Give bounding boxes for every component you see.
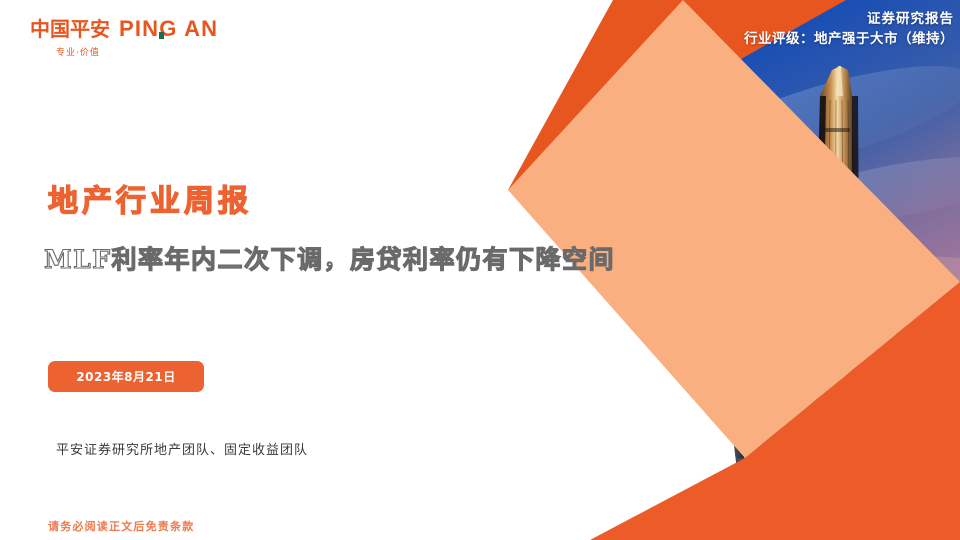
report-type-label: 证券研究报告 — [744, 9, 954, 29]
industry-rating-label: 行业评级：地产强于大市（维持） — [744, 29, 954, 49]
publish-date-badge: 2023年8月21日 — [48, 361, 204, 392]
disclaimer-notice: 请务必阅读正文后免责条款 — [48, 518, 194, 534]
presentation-cover-slide: 中国平安 PING AN 专业·价值 证券研究报告 行业评级：地产强于大市（维持… — [0, 0, 960, 540]
author-team-label: 平安证券研究所地产团队、固定收益团队 — [56, 439, 308, 458]
pingan-logo: 中国平安 PING AN 专业·价值 — [30, 18, 260, 58]
logo-tagline: 专业·价值 — [56, 45, 260, 58]
page-title: 地产行业周报 — [48, 176, 252, 220]
logo-english-label: PING AN — [119, 16, 218, 41]
page-subtitle: MLF利率年内二次下调，房贷利率仍有下降空间 — [44, 240, 615, 276]
logo-green-accent-icon — [159, 32, 164, 39]
report-header: 证券研究报告 行业评级：地产强于大市（维持） — [744, 9, 954, 50]
logo-english-text: PING AN — [119, 18, 218, 40]
logo-chinese-text: 中国平安 — [30, 19, 110, 39]
